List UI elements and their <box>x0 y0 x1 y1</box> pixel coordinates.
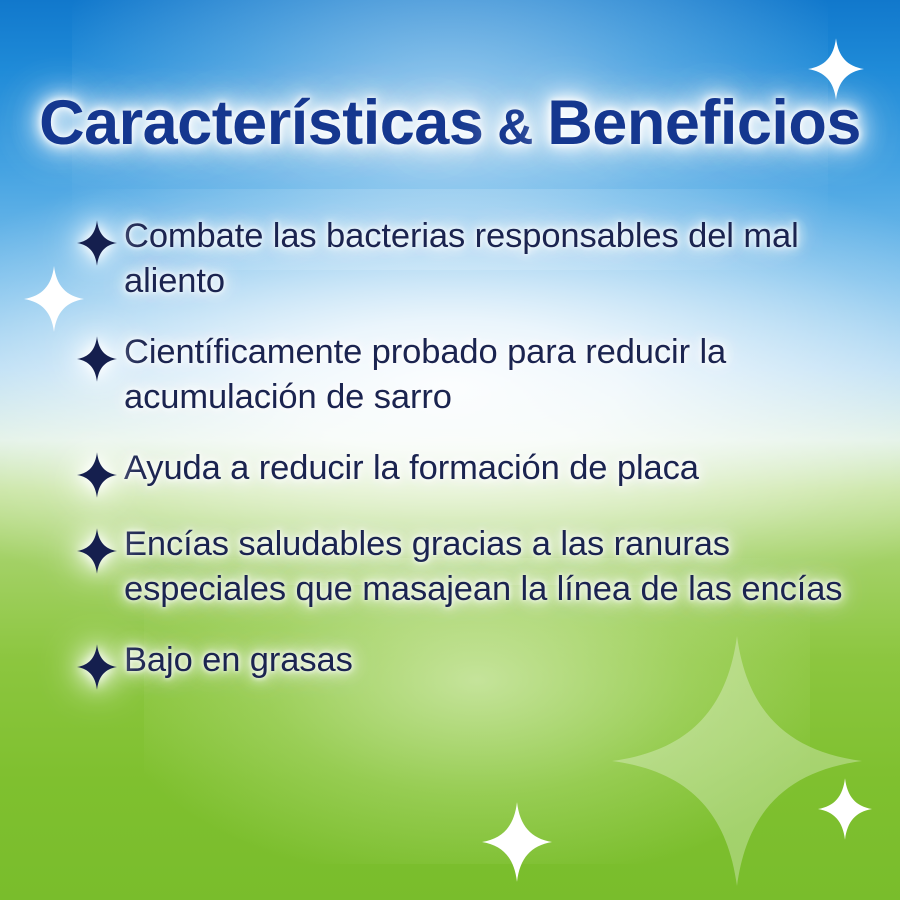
feature-benefits-poster: Características & Beneficios Combate las… <box>0 0 900 900</box>
page-title: Características & Beneficios <box>0 92 900 155</box>
page-title-main: Características <box>39 88 483 158</box>
benefit-text: Combate las bacterias responsables del m… <box>124 214 814 304</box>
benefit-text: Bajo en grasas <box>124 638 860 683</box>
list-item: Bajo en grasas <box>70 638 860 690</box>
four-point-star-bullet-icon <box>70 336 124 382</box>
benefit-text: Ayuda a reducir la formación de placa <box>124 446 860 491</box>
list-item: Ayuda a reducir la formación de placa <box>70 446 860 498</box>
benefits-list: Combate las bacterias responsables del m… <box>70 214 860 690</box>
four-point-star-bullet-icon <box>70 644 124 690</box>
page-title-separator: & <box>483 99 547 155</box>
list-item: Científicamente probado para reducir la … <box>70 330 860 420</box>
benefit-text: Científicamente probado para reducir la … <box>124 330 824 420</box>
four-point-star-bullet-icon <box>70 528 124 574</box>
list-item: Encías saludables gracias a las ranuras … <box>70 522 860 612</box>
poster-content: Características & Beneficios Combate las… <box>0 0 900 900</box>
four-point-star-bullet-icon <box>70 452 124 498</box>
four-point-star-bullet-icon <box>70 220 124 266</box>
page-title-suffix: Beneficios <box>547 88 861 158</box>
benefit-text: Encías saludables gracias a las ranuras … <box>124 522 844 612</box>
list-item: Combate las bacterias responsables del m… <box>70 214 860 304</box>
